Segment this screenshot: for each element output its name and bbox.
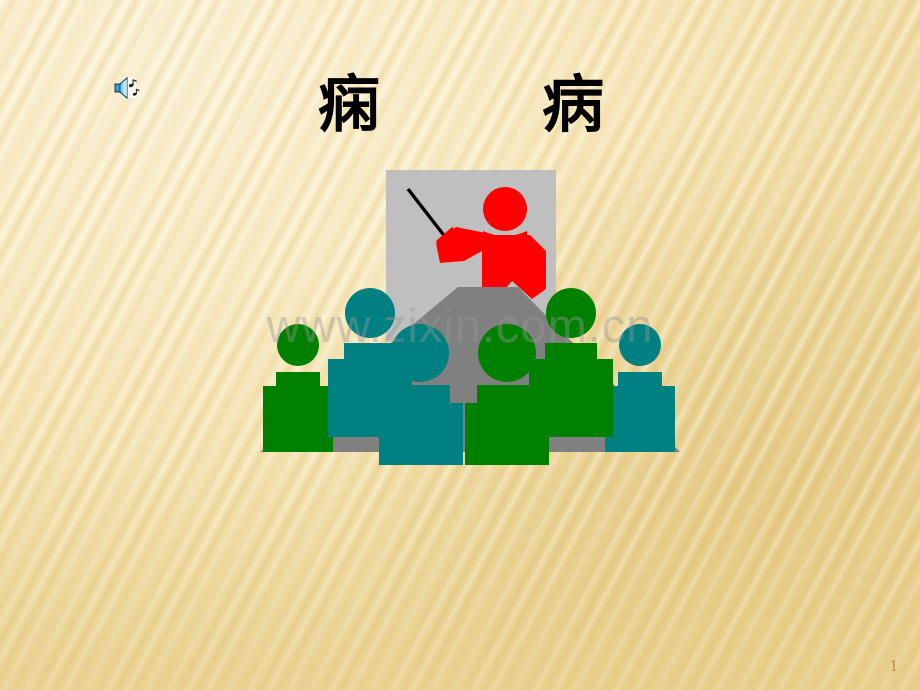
page-number: 1 xyxy=(890,657,899,674)
classroom-lecture-clipart xyxy=(250,165,690,475)
presentation-slide: 痫 病 xyxy=(0,0,920,690)
slide-title-char-2: 病 xyxy=(542,74,604,136)
speaker-sound-icon[interactable] xyxy=(114,75,144,101)
slide-background-fade xyxy=(0,460,920,690)
student-back-left xyxy=(263,324,333,452)
student-back-right xyxy=(605,324,675,452)
slide-title-char-1: 痫 xyxy=(318,74,380,136)
